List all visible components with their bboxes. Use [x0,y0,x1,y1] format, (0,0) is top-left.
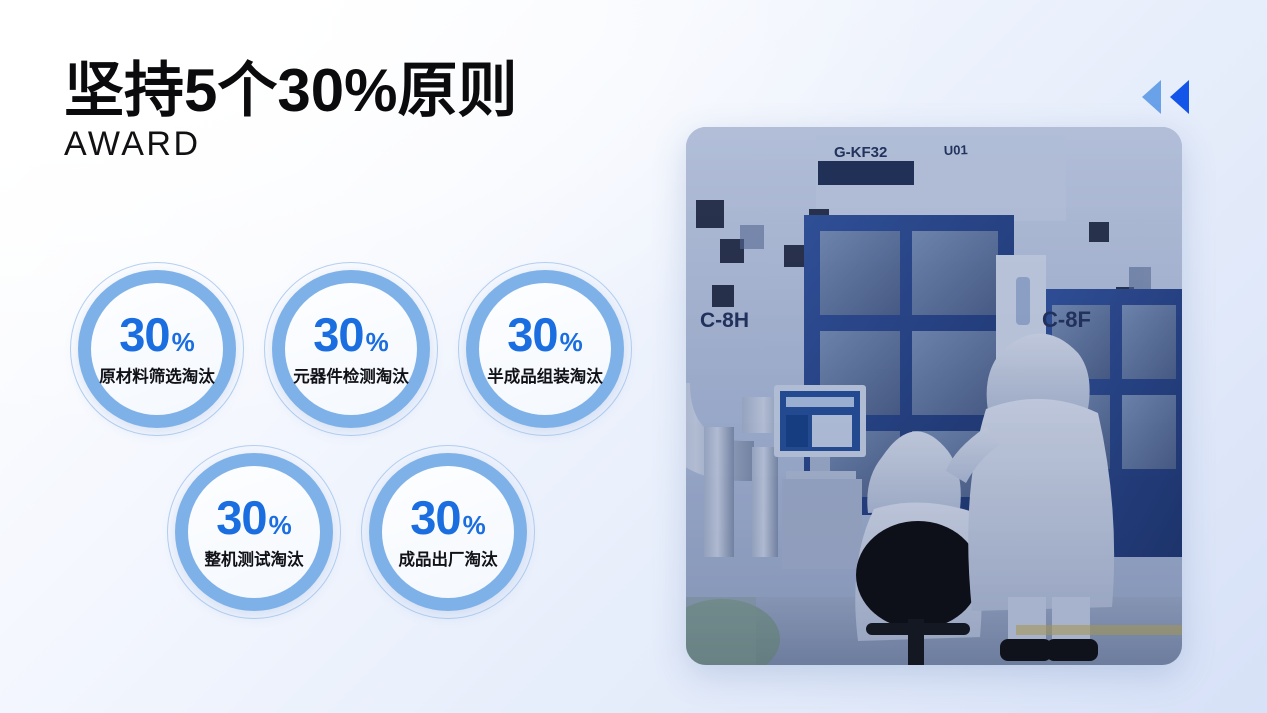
page-subtitle: AWARD [64,126,517,163]
title-block: 坚持5个30%原则 AWARD [64,59,517,163]
metric-label: 元器件检测淘汰 [293,363,409,387]
metric-label: 成品出厂淘汰 [399,546,498,570]
factory-photo: G-KF32 U01 [686,127,1182,665]
metric-value: 30 [216,494,266,541]
metric-value: 30 [313,311,363,358]
metric-label: 原材料筛选淘汰 [99,363,215,387]
page-title: 坚持5个30%原则 [64,59,517,124]
percent-symbol: % [463,512,486,538]
metric-circle-2[interactable]: 30 % 元器件检测淘汰 [272,270,430,428]
photo-illustration: G-KF32 U01 [686,127,1182,665]
percent-symbol: % [560,329,583,355]
metric-value-row: 30 % [410,494,485,541]
slide-canvas: 坚持5个30%原则 AWARD 30 % 原材料筛选淘汰 30 [0,0,1267,713]
svg-text:U01: U01 [944,142,968,158]
metric-value-row: 30 % [313,311,388,358]
svg-text:C-8H: C-8H [700,309,749,332]
metric-value: 30 [119,311,169,358]
metric-circle-3[interactable]: 30 % 半成品组装淘汰 [466,270,624,428]
metric-value-row: 30 % [216,494,291,541]
svg-text:C-8F: C-8F [1042,307,1091,332]
arrow-left-dark-icon[interactable] [1170,80,1189,114]
metric-label: 半成品组装淘汰 [487,363,603,387]
metric-value-row: 30 % [119,311,194,358]
metric-value: 30 [507,311,557,358]
metric-circle-1[interactable]: 30 % 原材料筛选淘汰 [78,270,236,428]
percent-symbol: % [366,329,389,355]
metric-circle-5[interactable]: 30 % 成品出厂淘汰 [369,453,527,611]
percent-symbol: % [172,329,195,355]
metric-value-row: 30 % [507,311,582,358]
metric-value: 30 [410,494,460,541]
arrow-left-light-icon[interactable] [1142,80,1161,114]
metric-label: 整机测试淘汰 [205,546,304,570]
percent-symbol: % [269,512,292,538]
svg-text:G-KF32: G-KF32 [834,144,887,161]
metric-circle-4[interactable]: 30 % 整机测试淘汰 [175,453,333,611]
back-arrows[interactable] [1142,80,1189,114]
